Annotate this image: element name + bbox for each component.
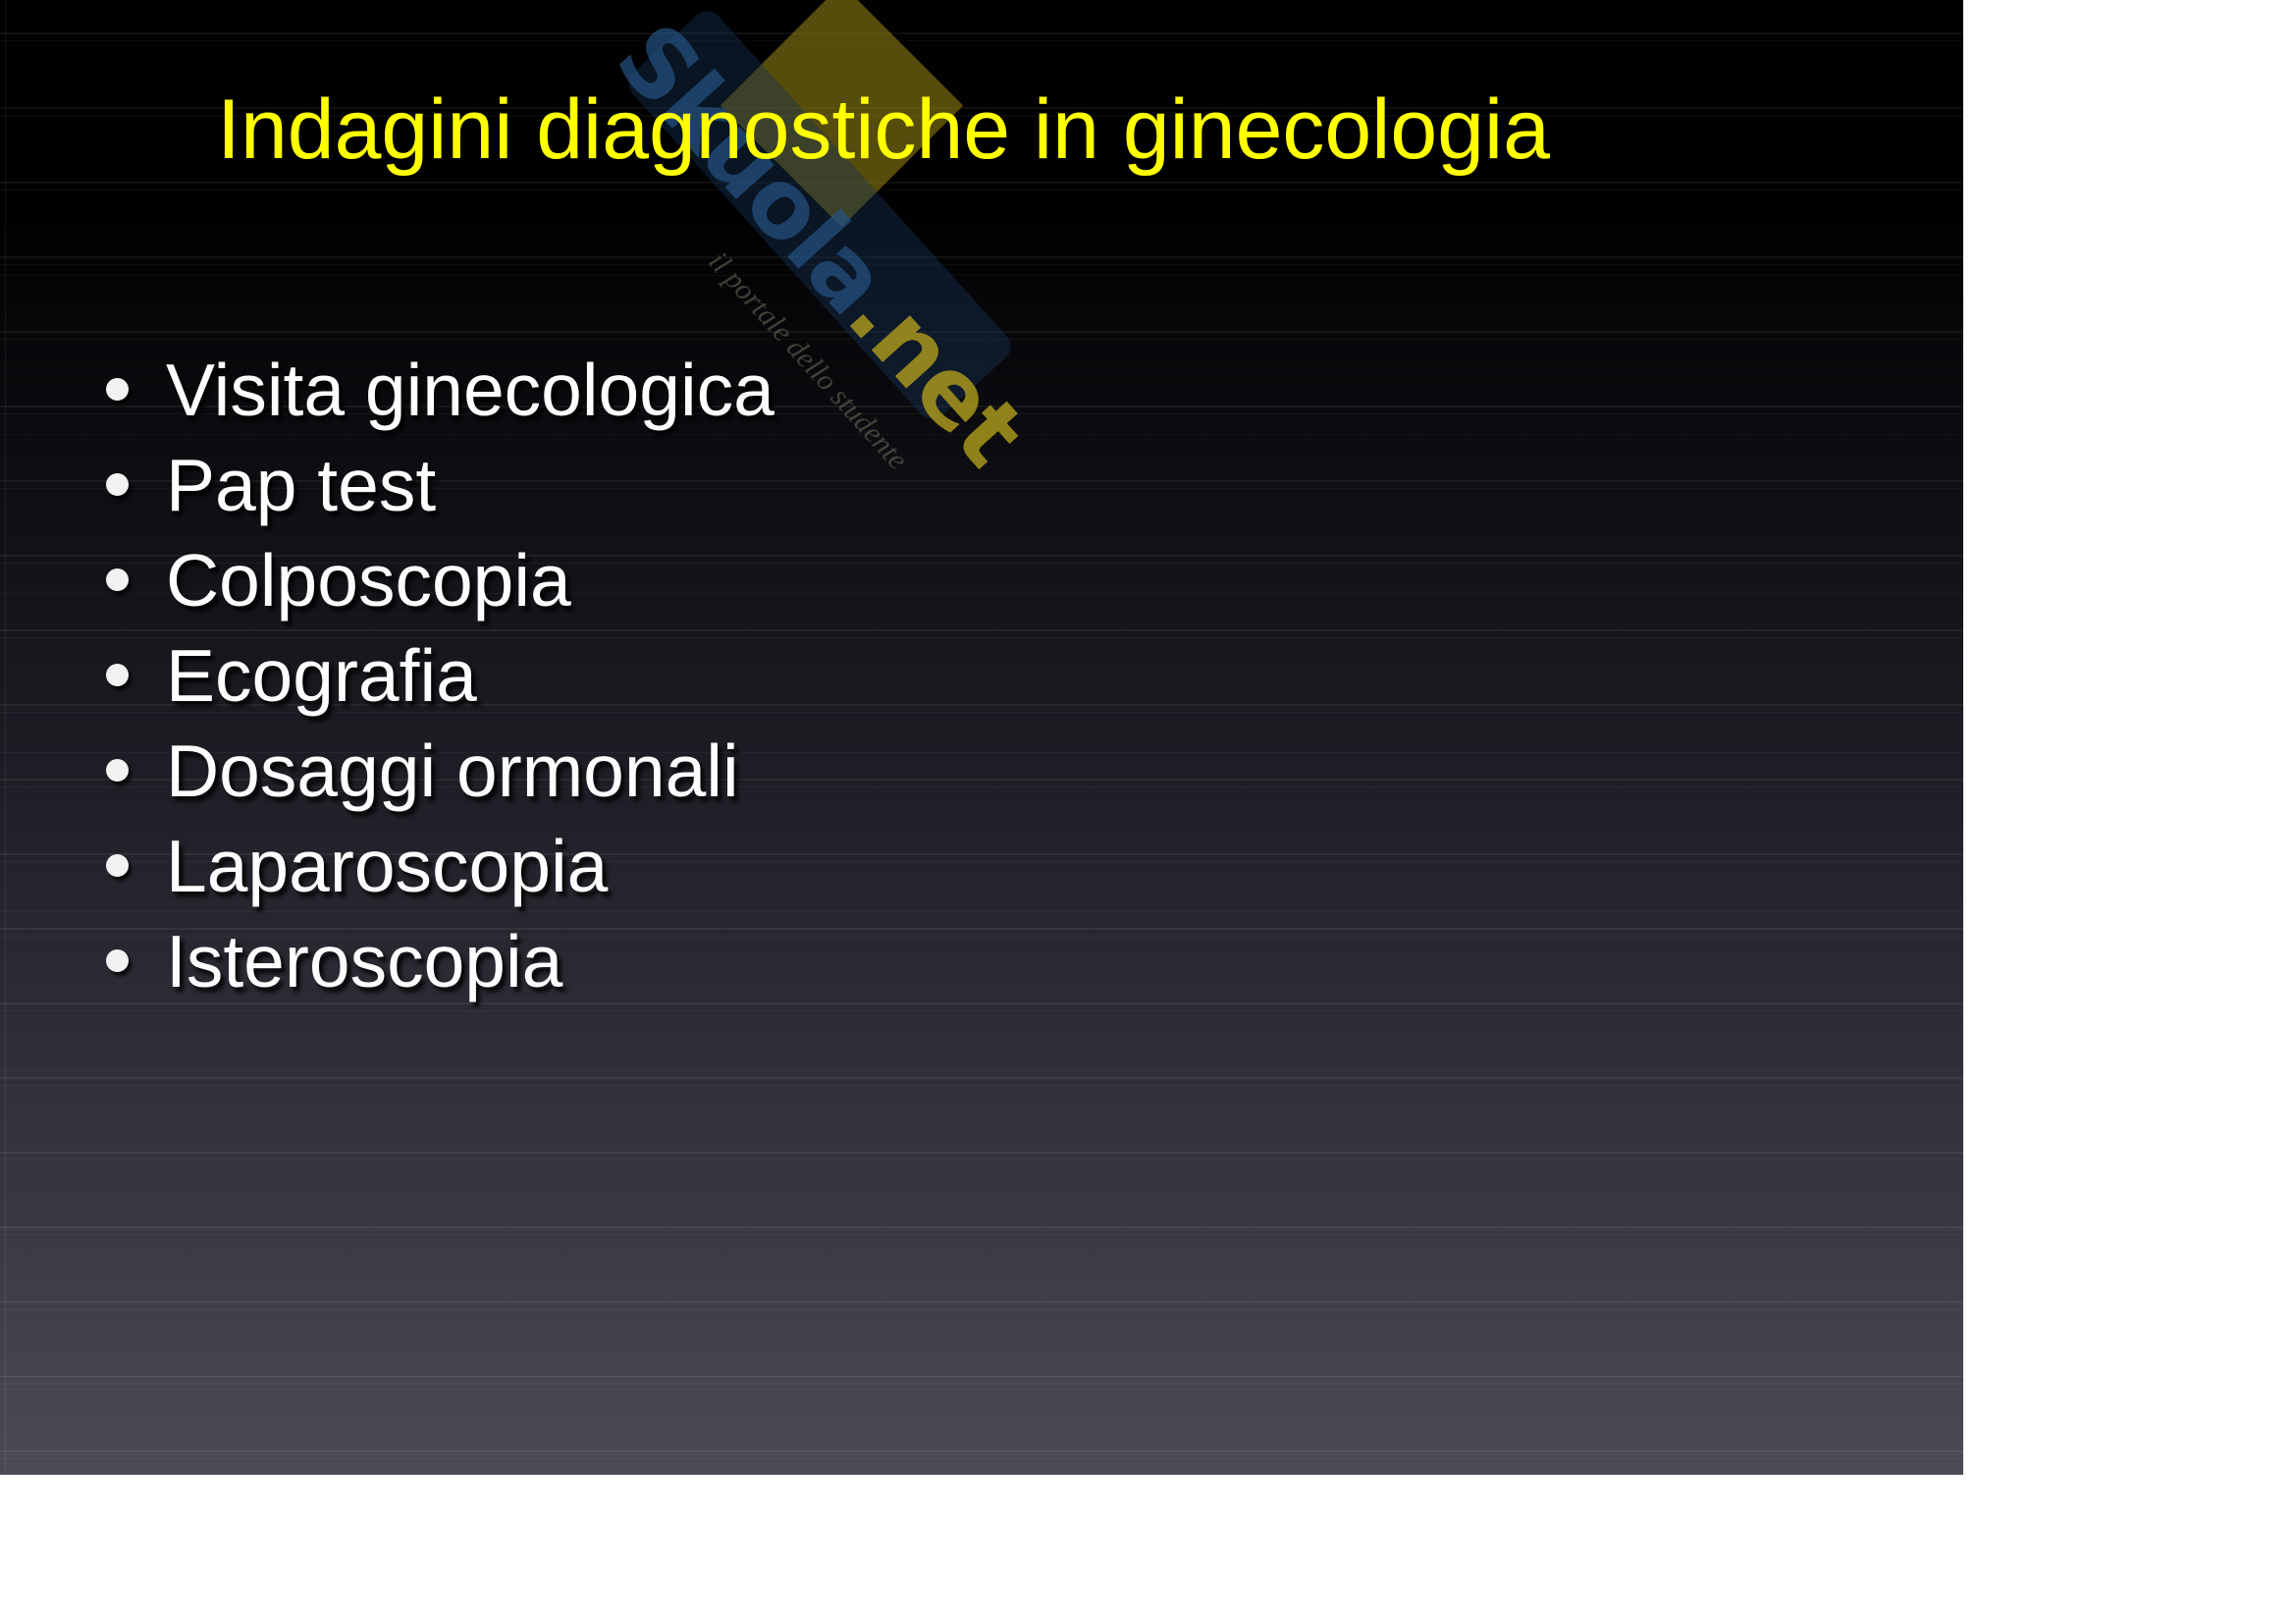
bullet-dot-icon: [106, 949, 129, 972]
list-item: Laparoscopia: [106, 818, 1873, 913]
list-item-label: Isteroscopia: [166, 922, 562, 1001]
list-item: Isteroscopia: [106, 913, 1873, 1008]
bullet-dot-icon: [106, 759, 129, 782]
slide-edge-line: [5, 0, 6, 1475]
list-item: Colposcopia: [106, 532, 1873, 627]
bullet-dot-icon: [106, 664, 129, 686]
slide-bullet-list: Visita ginecologica Pap test Colposcopia…: [106, 342, 1873, 1008]
presentation-slide: Skuola.net il portale dello studente Ind…: [0, 0, 1963, 1475]
list-item: Ecografia: [106, 627, 1873, 723]
bullet-dot-icon: [106, 568, 129, 591]
bullet-dot-icon: [106, 378, 129, 401]
list-item-label: Visita ginecologica: [166, 351, 774, 429]
list-item: Pap test: [106, 437, 1873, 532]
slide-title: Indagini diagnostiche in ginecologia: [0, 82, 1767, 177]
list-item-label: Laparoscopia: [166, 827, 608, 905]
list-item-label: Pap test: [166, 446, 436, 524]
list-item-label: Dosaggi ormonali: [166, 731, 739, 810]
bullet-dot-icon: [106, 473, 129, 496]
list-item: Visita ginecologica: [106, 342, 1873, 437]
list-item-label: Ecografia: [166, 636, 477, 715]
list-item: Dosaggi ormonali: [106, 723, 1873, 818]
list-item-label: Colposcopia: [166, 541, 571, 620]
bullet-dot-icon: [106, 854, 129, 877]
